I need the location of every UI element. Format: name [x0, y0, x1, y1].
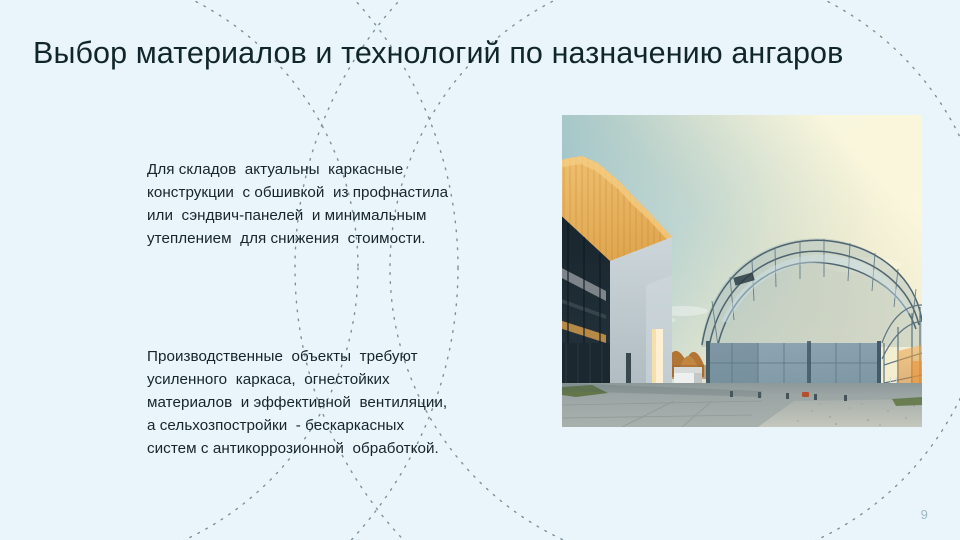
hangar-photo [562, 115, 922, 427]
paragraph-1-line-1: Для складов актуальны каркасные [147, 158, 507, 181]
paragraph-1-line-3: или сэндвич-панелей и минимальным [147, 204, 507, 227]
body-paragraph-1: Для складов актуальны каркасные конструк… [147, 158, 507, 250]
paragraph-2-line-1: Производственные объекты требуют [147, 345, 507, 368]
paragraph-2-line-5: систем с антикоррозионной обработкой. [147, 437, 507, 460]
paragraph-2-line-4: а сельхозпостройки - бескаркасных [147, 414, 507, 437]
paragraph-1-line-2: конструкции с обшивкой из профнастила [147, 181, 507, 204]
page-number: 9 [921, 507, 928, 522]
paragraph-2-line-2: усиленного каркаса, огнестойких [147, 368, 507, 391]
page-title: Выбор материалов и технологий по назначе… [33, 34, 933, 72]
body-paragraph-2: Производственные объекты требуют усиленн… [147, 345, 507, 460]
paragraph-2-line-3: материалов и эффективной вентиляции, [147, 391, 507, 414]
slide-canvas: Выбор материалов и технологий по назначе… [0, 0, 960, 540]
paragraph-1-line-4: утеплением для снижения стоимости. [147, 227, 507, 250]
